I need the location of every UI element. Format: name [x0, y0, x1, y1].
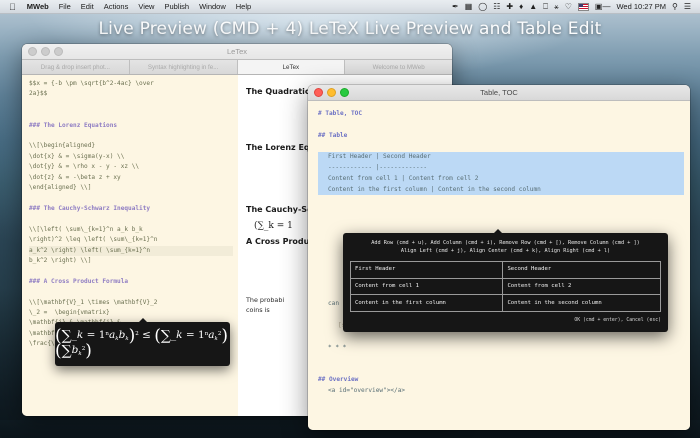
toc-line [318, 332, 684, 343]
pen-icon[interactable]: ✒ [452, 1, 459, 13]
keyboard-input-icon[interactable]: ▦ [465, 1, 473, 13]
toc-editor[interactable]: # Table, TOC ## Table First Header | Sec… [308, 101, 690, 430]
editor-line: a_k^2 \right) \left( \sum_{k=1}^n [29, 246, 233, 256]
toc-line: * * * [318, 343, 684, 354]
bluetooth-icon[interactable]: ⚹ [554, 1, 559, 13]
toc-line-heading: ## Table [318, 131, 684, 142]
menu-item-file[interactable]: File [54, 0, 76, 13]
apple-menu-icon[interactable]:  [5, 1, 22, 13]
table-edit-hint-line-1: Add Row (cmd + u), Add Column (cmd + i),… [350, 239, 661, 247]
editor-line [29, 193, 233, 203]
table-row[interactable]: First Header Second Header [351, 261, 661, 278]
editor-line: 2a}$$ [29, 89, 233, 99]
mweb-tab-bar: Drag & drop insert phot... Syntax highli… [22, 60, 452, 75]
tab-welcome-to-mweb[interactable]: Welcome to MWeb [345, 60, 452, 74]
table-cell[interactable]: Content in the first column [351, 295, 503, 312]
editor-line: \end{aligned} \\] [29, 183, 233, 193]
editor-line [29, 131, 233, 141]
editor-line-heading: ### The Lorenz Equations [29, 121, 233, 131]
menu-item-help[interactable]: Help [231, 0, 256, 13]
page-title: Live Preview (CMD + 4) LeTeX Live Previe… [0, 19, 700, 39]
editor-line: b_k^2 \right) \\] [29, 256, 233, 266]
notification-center-icon[interactable]: ☰ [684, 1, 691, 13]
table-cell[interactable]: Second Header [503, 261, 661, 278]
plus-icon[interactable]: ✚ [506, 1, 513, 13]
tab-syntax-highlighting[interactable]: Syntax highlighting in fe... [130, 60, 238, 74]
editor-line: $$x = {-b \pm \sqrt{b^2-4ac} \over [29, 79, 233, 89]
menu-item-window[interactable]: Window [194, 0, 231, 13]
editor-line: \_2 = \begin{vmatrix} [29, 308, 233, 318]
battery-icon[interactable]: ▣— [595, 1, 611, 13]
latex-live-preview-popup: (∑_k = 1nakbk)2 ≤ (∑_k = 1nak2)(∑bk2) [55, 322, 230, 366]
us-flag-icon[interactable] [578, 3, 589, 11]
editor-line-heading: ### A Cross Product Formula [29, 277, 233, 287]
toc-window-title: Table, TOC [308, 88, 690, 97]
popup-arrow-icon [138, 318, 148, 323]
toc-line [318, 353, 684, 364]
menu-bar:  MWeb File Edit Actions View Publish Wi… [0, 0, 700, 14]
toc-line-heading: # Table, TOC [318, 109, 684, 120]
editor-line: \dot{z} & = -\beta z + xy [29, 173, 233, 183]
editor-line: \dot{x} & = \sigma(y-x) \\ [29, 152, 233, 162]
toc-titlebar[interactable]: Table, TOC [308, 85, 690, 101]
tab-drag-drop-insert-photo[interactable]: Drag & drop insert phot... [22, 60, 130, 74]
table-edit-grid[interactable]: First Header Second Header Content from … [350, 261, 661, 312]
toc-line [318, 141, 684, 152]
toc-line-heading: ## Overview [318, 375, 684, 386]
editor-line [29, 110, 233, 120]
mweb-titlebar[interactable]: LeTex [22, 44, 452, 60]
cloud-icon[interactable]: ▲ [529, 1, 537, 13]
editor-line: \dot{y} & = \rho x - y - xz \\ [29, 162, 233, 172]
editor-line [29, 266, 233, 276]
toc-line [318, 120, 684, 131]
markdown-source-editor[interactable]: $$x = {-b \pm \sqrt{b^2-4ac} \over 2a}$$… [22, 75, 238, 416]
editor-line-heading: ### The Cauchy-Schwarz Inequality [29, 204, 233, 214]
menu-item-app[interactable]: MWeb [22, 0, 54, 13]
editor-line [29, 287, 233, 297]
table-row[interactable]: Content from cell 1 Content from cell 2 [351, 278, 661, 295]
table-edit-hint-line-2: Align Left (cmd + j), Align Center (cmd … [350, 247, 661, 255]
table-row[interactable]: Content in the first column Content in t… [351, 295, 661, 312]
menu-item-actions[interactable]: Actions [99, 0, 134, 13]
menu-item-view[interactable]: View [133, 0, 159, 13]
circle-icon[interactable]: ◯ [478, 1, 487, 13]
table-edit-footer: OK (cmd + enter), Cancel (esc) [350, 316, 661, 327]
toc-line-selected: Content in the first column | Content in… [318, 185, 684, 196]
menu-item-publish[interactable]: Publish [159, 0, 194, 13]
search-icon[interactable]: ⚲ [672, 1, 678, 13]
table-cell[interactable]: First Header [351, 261, 503, 278]
menu-item-edit[interactable]: Edit [76, 0, 99, 13]
table-cell[interactable]: Content from cell 1 [351, 278, 503, 295]
shield-icon[interactable]: ♡ [565, 1, 572, 13]
table-cell[interactable]: Content in the second column [503, 295, 661, 312]
display-icon[interactable]: ⎕ [543, 1, 548, 13]
latex-rendered-formula: (∑_k = 1nakbk)2 ≤ (∑_k = 1nak2)(∑bk2) [55, 329, 230, 360]
toc-line-selected: Content from cell 1 | Content from cell … [318, 174, 684, 185]
toc-line-selected: First Header | Second Header [318, 152, 684, 163]
popup-arrow-icon [493, 229, 503, 234]
toc-line-selected: ------------ |------------- [318, 163, 684, 174]
menubar-clock[interactable]: Wed 10:27 PM [616, 2, 665, 11]
editor-line [29, 214, 233, 224]
table-cell[interactable]: Content from cell 2 [503, 278, 661, 295]
editor-line: \right)^2 \leq \left( \sum\_{k=1}^n [29, 235, 233, 245]
editor-line [29, 100, 233, 110]
mweb-window-title: LeTex [22, 47, 452, 56]
editor-line: \\[\mathbf{V}_1 \times \mathbf{V}_2 [29, 298, 233, 308]
table-toc-window[interactable]: Table, TOC # Table, TOC ## Table First H… [308, 85, 690, 430]
editor-line: \\[\begin{aligned} [29, 141, 233, 151]
toc-line: <a id="overview"></a> [318, 386, 684, 397]
toc-line [318, 364, 684, 375]
dropbox-icon[interactable]: ♦ [519, 1, 523, 13]
editor-line: \\[\left( \sum\_{k=1}^n a_k b_k [29, 225, 233, 235]
airplay-icon[interactable]: ☷ [493, 1, 500, 13]
table-edit-popup[interactable]: Add Row (cmd + u), Add Column (cmd + i),… [343, 233, 668, 332]
tab-letex[interactable]: LeTex [238, 60, 346, 74]
